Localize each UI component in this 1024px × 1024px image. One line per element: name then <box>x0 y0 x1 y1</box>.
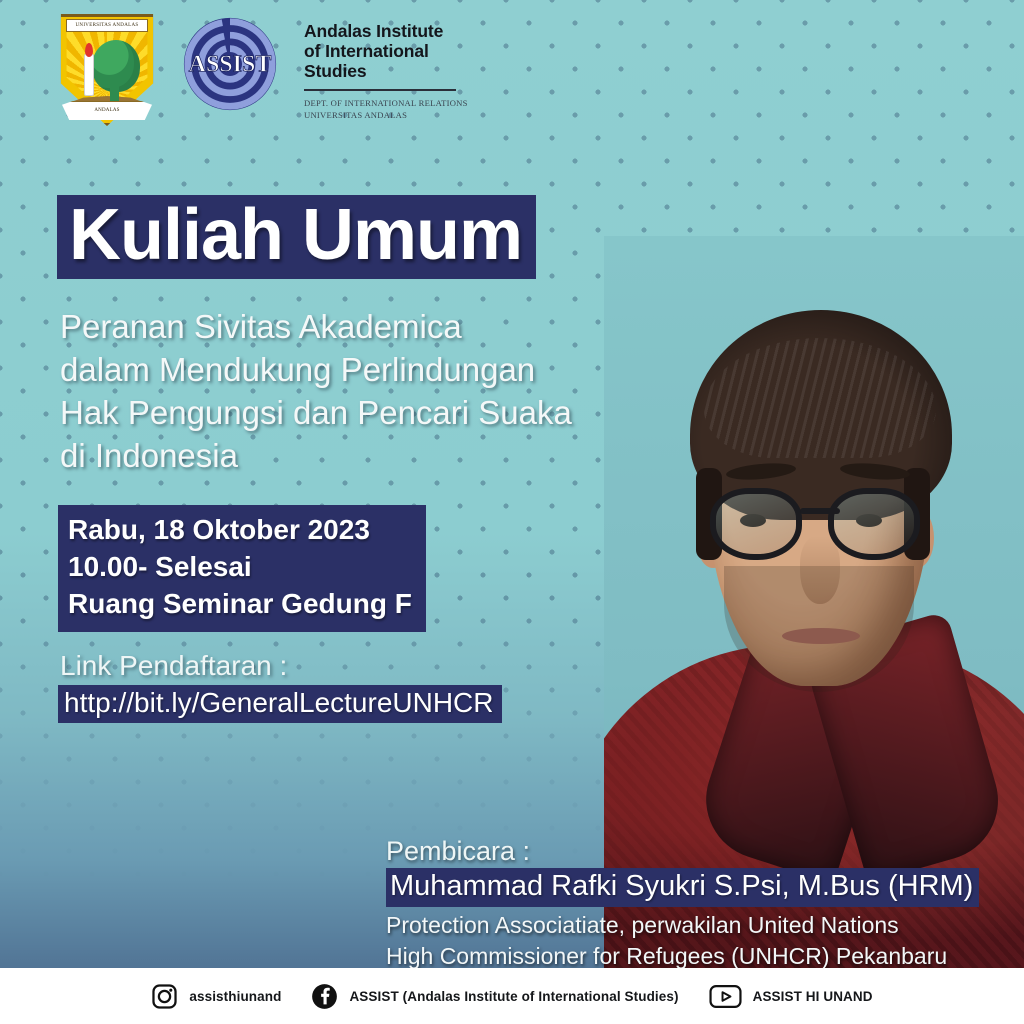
event-details-box: Rabu, 18 Oktober 2023 10.00- Selesai Rua… <box>58 505 426 632</box>
subtitle-line-3: Hak Pengungsi dan Pencari Suaka <box>60 392 670 435</box>
subtitle-line-1: Peranan Sivitas Akademica <box>60 306 670 349</box>
assist-spiral-logo-icon: ASSIST <box>182 16 278 112</box>
instagram-handle: assisthiunand <box>189 989 281 1004</box>
social-instagram[interactable]: assisthiunand <box>151 983 281 1010</box>
facebook-page-name: ASSIST (Andalas Institute of Internation… <box>349 989 678 1004</box>
instagram-icon <box>151 983 178 1010</box>
nose <box>800 536 840 604</box>
subtitle-line-4: di Indonesia <box>60 435 670 478</box>
org-divider <box>304 89 456 91</box>
social-footer: assisthiunand ASSIST (Andalas Institute … <box>0 968 1024 1024</box>
event-date: Rabu, 18 Oktober 2023 <box>68 511 412 548</box>
social-youtube[interactable]: ASSIST HI UNAND <box>709 983 873 1010</box>
speaker-label: Pembicara : <box>386 836 1002 866</box>
lecture-subtitle: Peranan Sivitas Akademica dalam Mendukun… <box>60 306 670 478</box>
lens-right <box>828 488 920 560</box>
mouth <box>782 628 860 644</box>
lens-left <box>710 488 802 560</box>
page-title: Kuliah Umum <box>57 195 536 279</box>
glasses-bridge <box>800 508 840 514</box>
social-facebook[interactable]: ASSIST (Andalas Institute of Internation… <box>311 983 678 1010</box>
org-name-block: Andalas Institute of International Studi… <box>304 14 468 121</box>
assist-wordmark: ASSIST <box>189 52 272 78</box>
subtitle-line-2: dalam Mendukung Perlindungan <box>60 349 670 392</box>
crest-band-text: UNIVERSITAS ANDALAS <box>66 19 148 32</box>
header-logos: UNIVERSITAS ANDALAS ANDALAS ASSIST Andal… <box>58 14 468 126</box>
facebook-icon <box>311 983 338 1010</box>
event-venue: Ruang Seminar Gedung F <box>68 585 412 622</box>
crest-flame <box>85 43 93 57</box>
speaker-affiliation: Protection Associatiate, perwakilan Unit… <box>386 910 1002 972</box>
youtube-channel-name: ASSIST HI UNAND <box>753 989 873 1004</box>
registration-label: Link Pendaftaran : <box>60 650 287 682</box>
poster-canvas: UNIVERSITAS ANDALAS ANDALAS ASSIST Andal… <box>0 0 1024 1024</box>
registration-link[interactable]: http://bit.ly/GeneralLectureUNHCR <box>58 685 502 723</box>
crest-candle <box>84 54 94 96</box>
speaker-block: Pembicara : Muhammad Rafki Syukri S.Psi,… <box>386 836 1002 972</box>
speaker-name: Muhammad Rafki Syukri S.Psi, M.Bus (HRM) <box>386 868 979 907</box>
speaker-affiliation-line-1: Protection Associatiate, perwakilan Unit… <box>386 910 1002 941</box>
org-sub-line-2: UNIVERSITAS ANDALAS <box>304 109 468 121</box>
youtube-icon <box>709 983 742 1010</box>
universitas-andalas-crest-icon: UNIVERSITAS ANDALAS ANDALAS <box>58 14 156 126</box>
org-name-line-3: Studies <box>304 62 468 82</box>
event-time: 10.00- Selesai <box>68 548 412 585</box>
org-sub-line-1: DEPT. OF INTERNATIONAL RELATIONS <box>304 97 468 109</box>
org-name: Andalas Institute of International Studi… <box>304 22 468 82</box>
org-name-line-1: Andalas Institute <box>304 22 468 42</box>
org-name-line-2: of International <box>304 42 468 62</box>
page-title-text: Kuliah Umum <box>69 199 522 271</box>
crest-ribbon-text: ANDALAS <box>62 101 152 120</box>
